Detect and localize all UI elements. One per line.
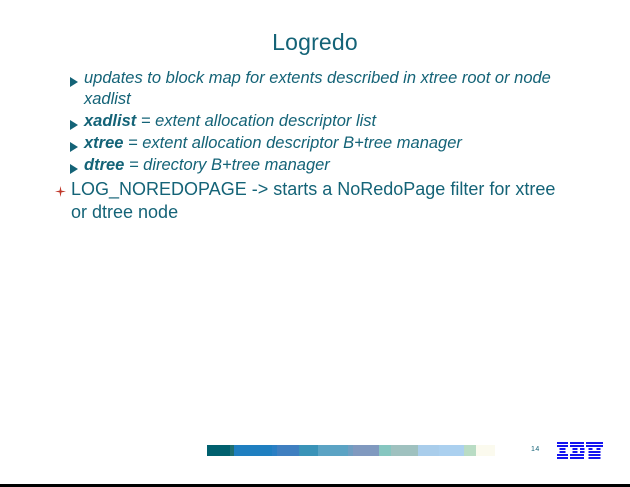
- triangle-right-icon: [70, 67, 84, 88]
- color-bar-segment: [353, 445, 379, 456]
- list-item-label: xadlist = extent allocation descriptor l…: [84, 111, 376, 132]
- color-bar-segment: [476, 445, 495, 456]
- color-bar-segment: [277, 445, 299, 456]
- list-item-lead: dtree: [84, 156, 124, 174]
- color-bar-segment: [391, 445, 418, 456]
- list-item: LOG_NOREDOPAGE -> starts a NoRedoPage fi…: [0, 178, 630, 224]
- page-title: Logredo: [0, 30, 630, 55]
- list-item: xadlist = extent allocation descriptor l…: [0, 111, 630, 132]
- color-bar-segment: [379, 445, 391, 456]
- color-bar-segment: [418, 445, 439, 456]
- list-item-label: LOG_NOREDOPAGE -> starts a NoRedoPage fi…: [71, 178, 571, 224]
- color-bar-segment: [207, 445, 230, 456]
- triangle-right-icon: [70, 132, 84, 153]
- presentation-slide: Logredo updates to block map for extents…: [0, 0, 630, 487]
- ibm-logo: [557, 442, 603, 459]
- color-bar-segment: [318, 445, 348, 456]
- color-bar-segment: [439, 445, 463, 456]
- color-bar-segment: [299, 445, 318, 456]
- slide-footer: 14: [0, 440, 630, 462]
- bullet-list: updates to block map for extents describ…: [0, 68, 630, 224]
- color-bar-segment: [464, 445, 476, 456]
- list-item-label: xtree = extent allocation descriptor B+t…: [84, 133, 462, 154]
- color-bar-segment: [234, 445, 272, 456]
- list-item-label: updates to block map for extents describ…: [84, 68, 584, 110]
- footer-color-bar: [207, 445, 495, 456]
- triangle-right-icon: [70, 154, 84, 175]
- page-number: 14: [531, 444, 540, 455]
- list-item: updates to block map for extents describ…: [0, 68, 630, 110]
- triangle-right-icon: [70, 110, 84, 131]
- list-item-lead: xadlist: [84, 112, 136, 130]
- list-item-label: dtree = directory B+tree manager: [84, 155, 330, 176]
- list-item: dtree = directory B+tree manager: [0, 155, 630, 176]
- list-item: xtree = extent allocation descriptor B+t…: [0, 133, 630, 154]
- list-item-lead: xtree: [84, 134, 123, 152]
- star-icon: [55, 177, 71, 200]
